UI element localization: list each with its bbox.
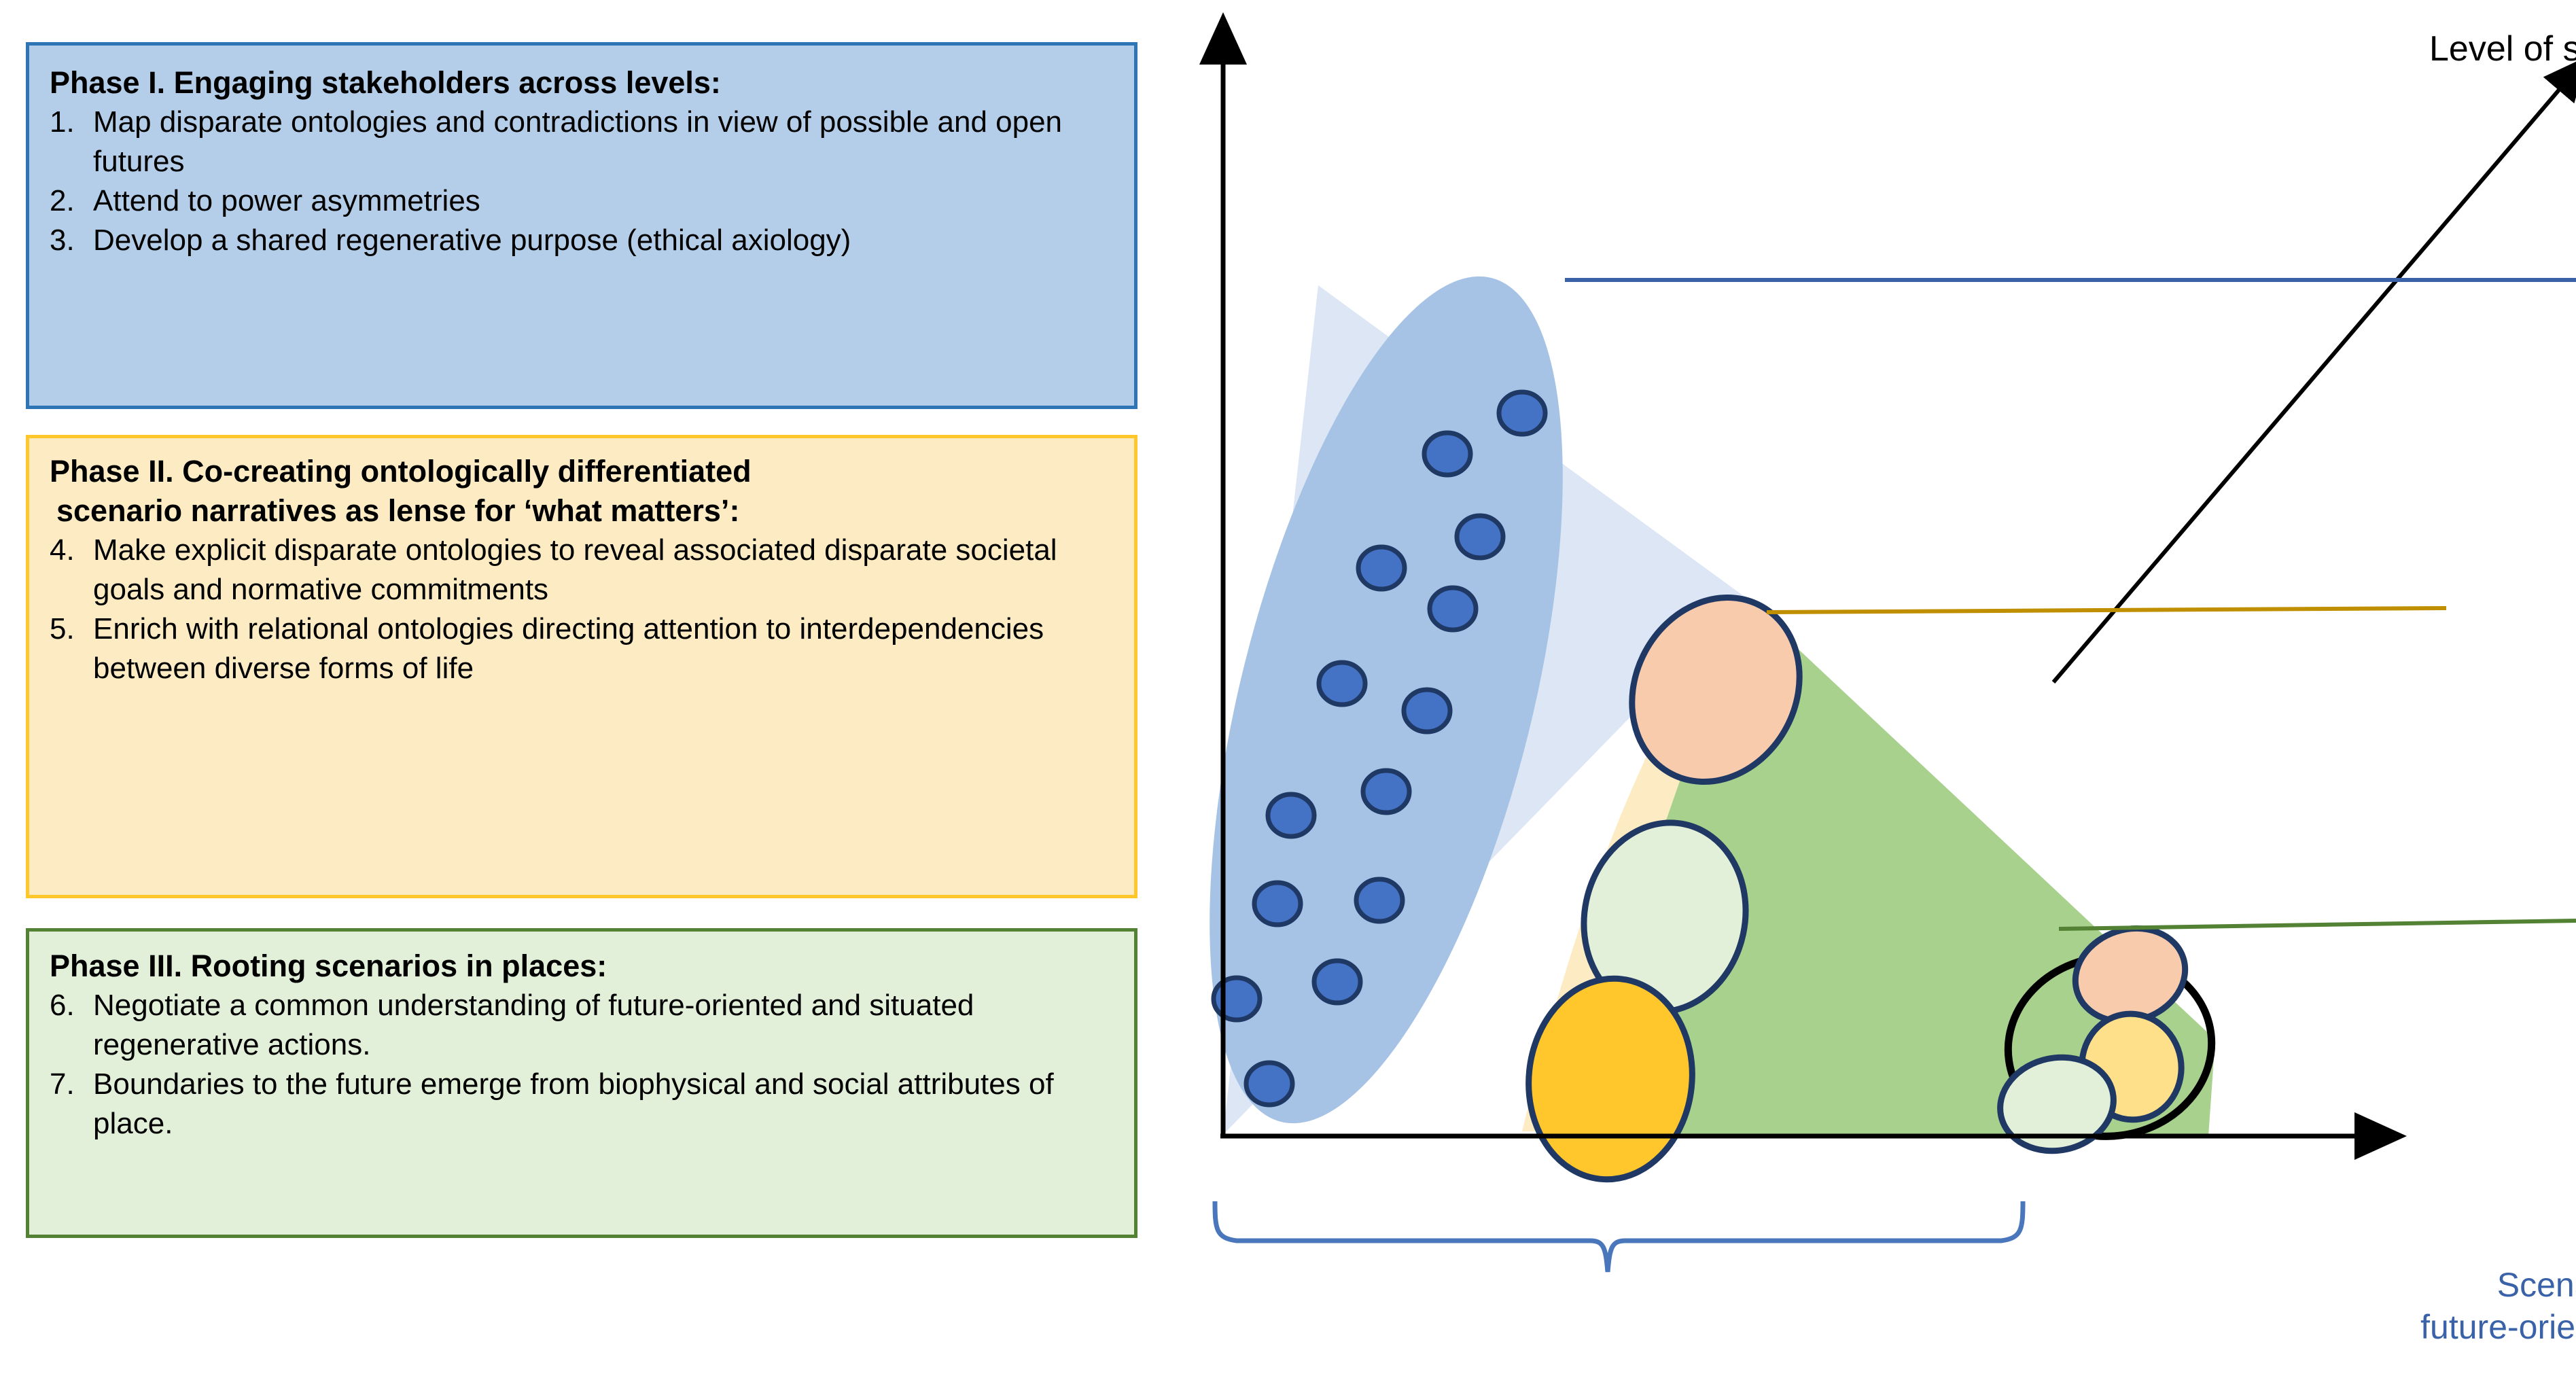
list-item-text: Make explicit disparate ontologies to re… [93, 531, 1115, 609]
list-item-number: 6. [50, 986, 93, 1025]
phase-3-list: 6. Negotiate a common understanding of f… [50, 986, 1115, 1144]
blue-dot [1499, 392, 1545, 434]
caption-line2: future-oriented place-based regenerative… [2361, 1306, 2576, 1348]
list-item: 3. Develop a shared regenerative purpose… [50, 221, 1115, 260]
list-item: 7. Boundaries to the future emerge from … [50, 1065, 1115, 1144]
list-item: 5. Enrich with relational ontologies dir… [50, 609, 1115, 688]
possible-leader-line [2059, 921, 2576, 929]
phase-1-title: Phase I. Engaging stakeholders across le… [50, 63, 1115, 103]
list-item-number: 7. [50, 1065, 93, 1104]
blue-dot [1268, 794, 1314, 836]
list-item-text: Map disparate ontologies and contradicti… [93, 103, 1115, 181]
blue-dot [1358, 547, 1405, 589]
list-item-number: 3. [50, 221, 93, 260]
list-item-number: 4. [50, 531, 93, 570]
caption-line1: Scenario process directing attention to [2361, 1264, 2576, 1306]
list-item-number: 2. [50, 181, 93, 221]
phase-3-title: Phase III. Rooting scenarios in places: [50, 946, 1115, 986]
blue-dot [1319, 662, 1365, 705]
list-item-text: Boundaries to the future emerge from bio… [93, 1065, 1115, 1144]
phase-1-list: 1. Map disparate ontologies and contradi… [50, 103, 1115, 260]
phase-3-box: Phase III. Rooting scenarios in places: … [26, 928, 1137, 1238]
phase-1-box: Phase I. Engaging stakeholders across le… [26, 42, 1137, 409]
y-axis-label: Level of social organisation [2429, 29, 2576, 69]
blue-dot [1254, 883, 1301, 925]
list-item-number: 5. [50, 609, 93, 649]
blue-dot [1363, 771, 1409, 813]
phase-2-list: 4. Make explicit disparate ontologies to… [50, 531, 1115, 688]
list-item: 4. Make explicit disparate ontologies to… [50, 531, 1115, 609]
phase-2-title-line1: Phase II. Co-creating ontologically diff… [50, 452, 1115, 491]
blue-dot [1457, 516, 1503, 558]
list-item-text: Negotiate a common understanding of futu… [93, 986, 1115, 1065]
list-item-text: Develop a shared regenerative purpose (e… [93, 221, 1115, 260]
diagram-caption: Scenario process directing attention to … [2361, 1264, 2576, 1348]
blue-dot [1214, 978, 1260, 1020]
figure-root: Phase I. Engaging stakeholders across le… [0, 0, 2576, 1380]
blue-dot [1356, 879, 1402, 921]
list-item: 2. Attend to power asymmetries [50, 181, 1115, 221]
diagram-canvas [1155, 0, 2576, 1380]
list-item: 1. Map disparate ontologies and contradi… [50, 103, 1115, 181]
scenario-diagram: Level of social organisation Spatial sca… [1155, 0, 2576, 1380]
list-item-text: Attend to power asymmetries [93, 181, 1115, 221]
blue-dot [1424, 433, 1470, 475]
process-brace [1215, 1201, 2023, 1272]
phase-2-title-line2: scenario narratives as lense for ‘what m… [50, 491, 1115, 531]
scenarios-leader-line [1767, 608, 2446, 612]
list-item-text: Enrich with relational ontologies direct… [93, 609, 1115, 688]
blue-dot [1314, 961, 1360, 1003]
blue-dot [1246, 1063, 1292, 1105]
phase-2-box: Phase II. Co-creating ontologically diff… [26, 435, 1137, 898]
list-item: 6. Negotiate a common understanding of f… [50, 986, 1115, 1065]
blue-dot [1404, 690, 1450, 732]
blue-dot [1430, 588, 1476, 630]
spatial-scale-arrow [2053, 75, 2572, 682]
list-item-number: 1. [50, 103, 93, 142]
